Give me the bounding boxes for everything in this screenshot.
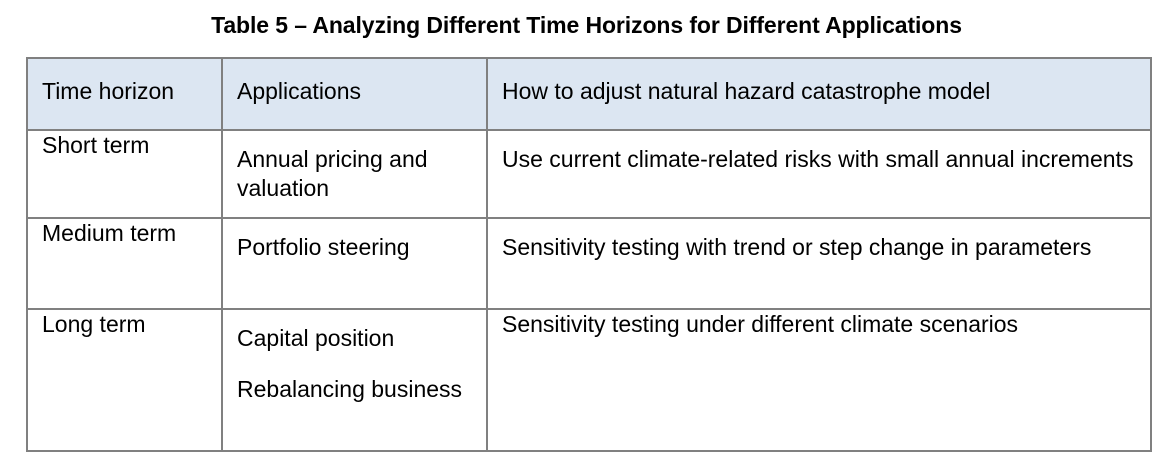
application-item: Portfolio steering — [237, 233, 472, 262]
table-row: Long term Capital position Rebalancing b… — [27, 309, 1151, 451]
time-horizons-table: Time horizon Applications How to adjust … — [26, 57, 1152, 452]
applications-value: Capital position Rebalancing business — [223, 310, 486, 418]
cell-time-horizon: Short term — [27, 130, 222, 218]
table-row: Medium term Portfolio steering Sensitivi… — [27, 218, 1151, 309]
adjustment-value: Sensitivity testing under different clim… — [488, 310, 1150, 339]
adjustment-value: Sensitivity testing with trend or step c… — [488, 219, 1150, 276]
table-header: Time horizon Applications How to adjust … — [27, 58, 1151, 130]
cell-adjustment: Sensitivity testing under different clim… — [487, 309, 1151, 451]
time-horizon-value: Medium term — [28, 219, 221, 248]
table-container: Time horizon Applications How to adjust … — [26, 57, 1150, 452]
cell-time-horizon: Medium term — [27, 218, 222, 309]
column-header-time-horizon: Time horizon — [27, 58, 222, 130]
table-body: Short term Annual pricing and valuation … — [27, 130, 1151, 451]
applications-value: Portfolio steering — [223, 219, 486, 276]
time-horizon-value: Long term — [28, 310, 221, 339]
time-horizon-value: Short term — [28, 131, 221, 160]
application-item: Annual pricing and valuation — [237, 145, 472, 203]
column-header-adjustment-label: How to adjust natural hazard catastrophe… — [488, 59, 1150, 106]
cell-applications: Portfolio steering — [222, 218, 487, 309]
page-title: Table 5 – Analyzing Different Time Horiz… — [0, 11, 1173, 39]
table-row: Short term Annual pricing and valuation … — [27, 130, 1151, 218]
adjustment-value: Use current climate-related risks with s… — [488, 131, 1150, 188]
cell-time-horizon: Long term — [27, 309, 222, 451]
table-header-row: Time horizon Applications How to adjust … — [27, 58, 1151, 130]
applications-value: Annual pricing and valuation — [223, 131, 486, 217]
column-header-adjustment: How to adjust natural hazard catastrophe… — [487, 58, 1151, 130]
cell-adjustment: Use current climate-related risks with s… — [487, 130, 1151, 218]
cell-adjustment: Sensitivity testing with trend or step c… — [487, 218, 1151, 309]
column-header-applications-label: Applications — [223, 59, 486, 106]
application-item: Rebalancing business — [237, 375, 472, 404]
cell-applications: Annual pricing and valuation — [222, 130, 487, 218]
application-item: Capital position — [237, 324, 472, 353]
cell-applications: Capital position Rebalancing business — [222, 309, 487, 451]
table-page: Table 5 – Analyzing Different Time Horiz… — [0, 0, 1173, 468]
column-header-time-horizon-label: Time horizon — [28, 59, 221, 106]
column-header-applications: Applications — [222, 58, 487, 130]
